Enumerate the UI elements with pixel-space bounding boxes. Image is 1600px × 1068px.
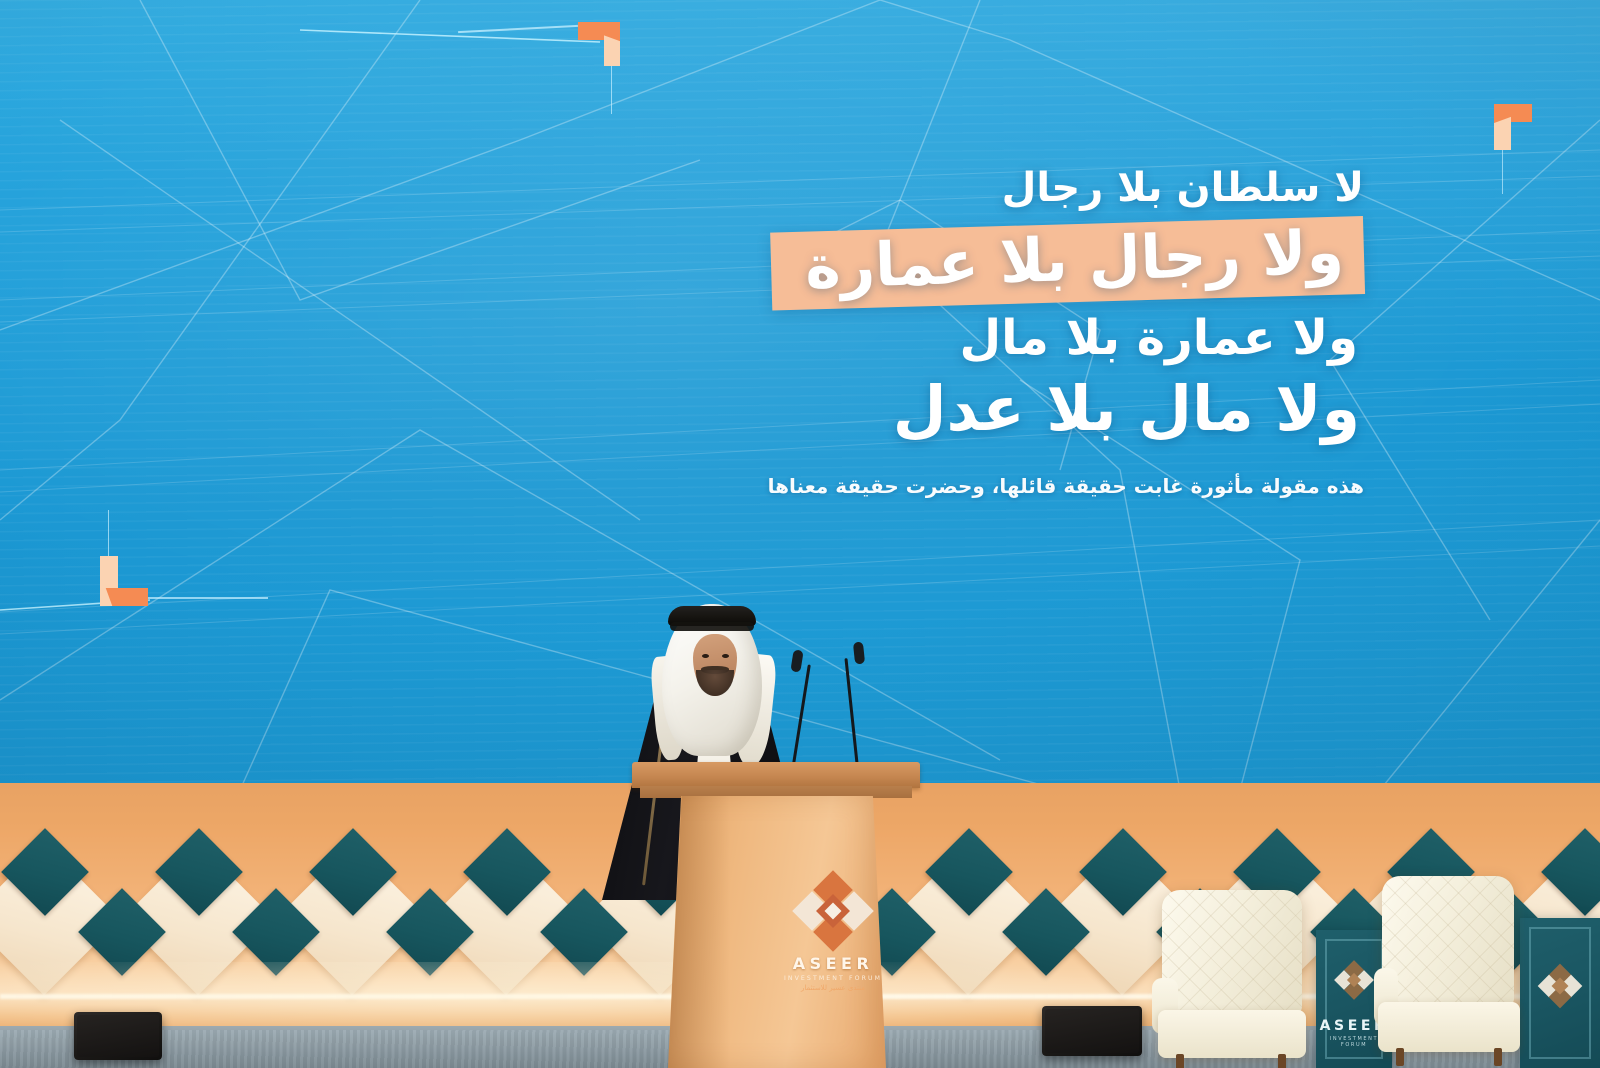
podium: ASEER INVESTMENT FORUM منتدى عسير للاستث… [632, 762, 920, 1068]
armchair-leg [1494, 1048, 1502, 1066]
armchair-leg [1278, 1054, 1286, 1068]
floor-monitor-left [74, 1012, 162, 1060]
armchair-right [1374, 876, 1526, 1068]
armchair-left [1152, 890, 1312, 1068]
armchair-leg [1176, 1054, 1184, 1068]
armchair-leg [1396, 1048, 1404, 1066]
accent-bracket-top-right [1488, 104, 1532, 150]
stage-photograph: لا سلطان بلا رجال ولا رجال بلا عمارة ولا… [0, 0, 1600, 1068]
headline-line-4: ولا مال بلا عدل [664, 378, 1364, 440]
armchair-backrest [1162, 890, 1302, 1016]
podium-brand-subtitle-ar: منتدى عسير للاستثمار [780, 984, 886, 992]
armchair-quilting [1162, 890, 1302, 1016]
podium-brand-name: ASEER [780, 954, 886, 973]
aseer-diamond-mark-icon [796, 874, 870, 948]
podium-brand-subtitle-en: INVESTMENT FORUM [780, 975, 886, 982]
speaker-eye-right [722, 654, 729, 658]
armchair-seat [1158, 1010, 1306, 1058]
slide-headline-block: لا سلطان بلا رجال ولا رجال بلا عمارة ولا… [664, 168, 1364, 498]
aseer-diamond-mark-icon [1540, 966, 1580, 1006]
speaker-igal-cord [670, 622, 754, 631]
podium-shading [668, 796, 730, 1068]
aseer-diamond-mark-icon [1336, 962, 1372, 998]
side-panel-right [1520, 918, 1600, 1068]
armchair-backrest [1382, 876, 1514, 1008]
armchair-seat [1378, 1002, 1520, 1052]
headline-line-2-highlighted: ولا رجال بلا عمارة [770, 216, 1365, 311]
slide-caption: هذه مقولة مأثورة غابت حقيقة قائلها، وحضر… [664, 474, 1364, 498]
podium-brand-lockup: ASEER INVESTMENT FORUM منتدى عسير للاستث… [780, 874, 886, 992]
accent-bracket-mid-left [100, 556, 148, 606]
floor-monitor-center [1042, 1006, 1142, 1056]
accent-bracket-top-center [578, 22, 620, 66]
headline-line-3: ولا عمارة بلا مال [664, 314, 1364, 362]
speaker-eye-left [702, 654, 709, 658]
podium-lectern-top [632, 762, 920, 788]
armchair-quilting [1382, 876, 1514, 1008]
headline-line-1: لا سلطان بلا رجال [664, 168, 1364, 214]
